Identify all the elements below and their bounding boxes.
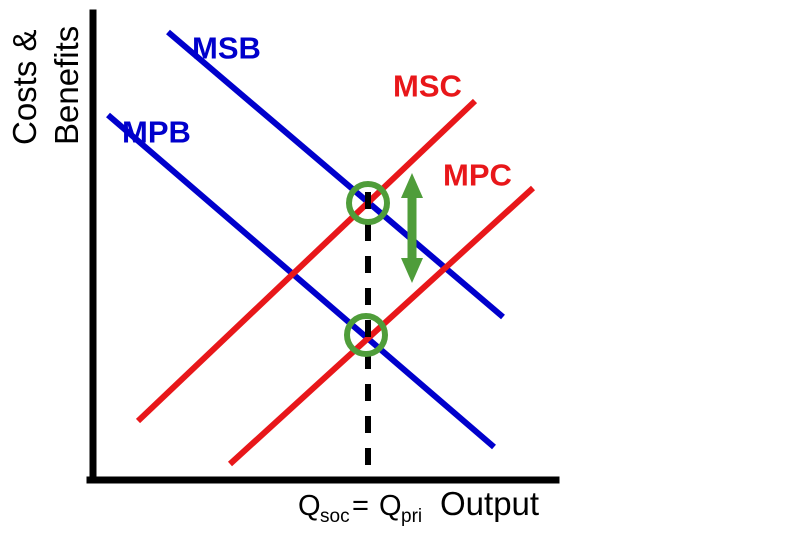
- x-tick-q-pri-main: Q: [379, 490, 402, 522]
- x-axis-title-group: Output: [440, 485, 539, 522]
- externality-gap-arrow: [401, 173, 423, 283]
- diagram-canvas: MSB MPB MSC MPC Costs & Benefits Q soc =…: [0, 0, 809, 547]
- curves-group: [108, 32, 533, 464]
- externality-gap-arrow-head-down: [401, 258, 423, 283]
- curve-label-msc: MSC: [393, 68, 462, 103]
- x-tick-equals-sign: =: [352, 490, 369, 522]
- curve-label-mpb: MPB: [122, 114, 191, 149]
- x-tick-q-pri-subscript: pri: [401, 506, 422, 527]
- curve-labels-group: MSB MPB MSC MPC: [122, 30, 512, 192]
- y-axis-title-line1: Costs &: [6, 29, 43, 145]
- curve-label-msb: MSB: [192, 30, 261, 65]
- externality-gap-arrow-head-up: [401, 173, 423, 198]
- y-axis-title-group: Costs & Benefits: [6, 26, 85, 145]
- x-tick-q-soc-subscript: soc: [320, 506, 350, 527]
- x-axis-title: Output: [440, 485, 539, 522]
- y-axis-title-line2: Benefits: [48, 26, 85, 145]
- externality-diagram: MSB MPB MSC MPC Costs & Benefits Q soc =…: [0, 0, 809, 547]
- curve-label-mpc: MPC: [443, 157, 512, 192]
- x-tick-q-soc-main: Q: [298, 490, 321, 522]
- x-axis-tick-label-group: Q soc = Q pri: [298, 490, 422, 527]
